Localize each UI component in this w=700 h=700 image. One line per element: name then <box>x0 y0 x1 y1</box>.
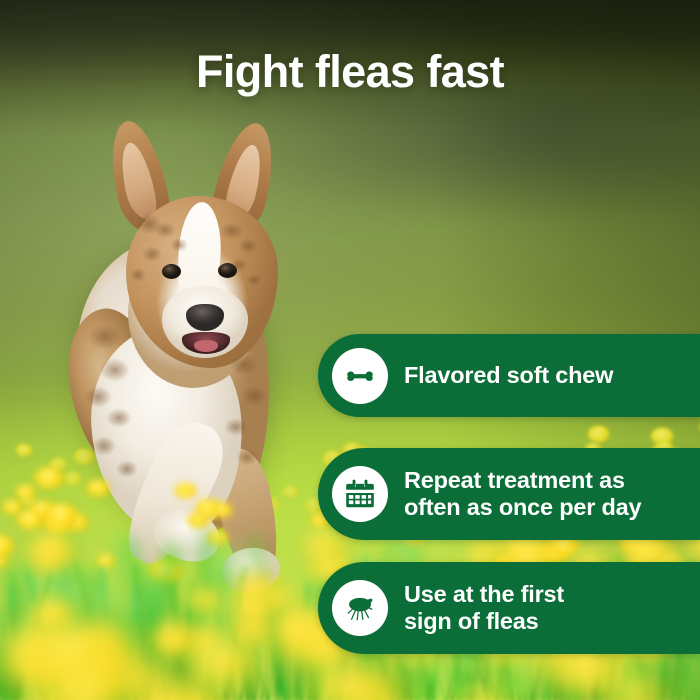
feature-badge-label: Repeat treatment as often as once per da… <box>404 467 657 522</box>
dog-tongue <box>194 340 218 352</box>
feature-badge-flavored-soft-chew[interactable]: Flavored soft chew <box>318 334 700 417</box>
flea-icon <box>332 580 388 636</box>
dog-left-eye <box>162 264 181 279</box>
page-title: Fight fleas fast <box>0 48 700 95</box>
feature-badge-repeat-treatment[interactable]: Repeat treatment as often as once per da… <box>318 448 700 540</box>
calendar-icon <box>332 466 388 522</box>
product-feature-banner: Fight fleas fast Flavored soft chew <box>0 0 700 700</box>
feature-badge-label: Flavored soft chew <box>404 362 629 389</box>
bone-icon <box>332 348 388 404</box>
feature-badge-label: Use at the first sign of fleas <box>404 581 580 636</box>
feature-badge-first-sign-of-fleas[interactable]: Use at the first sign of fleas <box>318 562 700 654</box>
